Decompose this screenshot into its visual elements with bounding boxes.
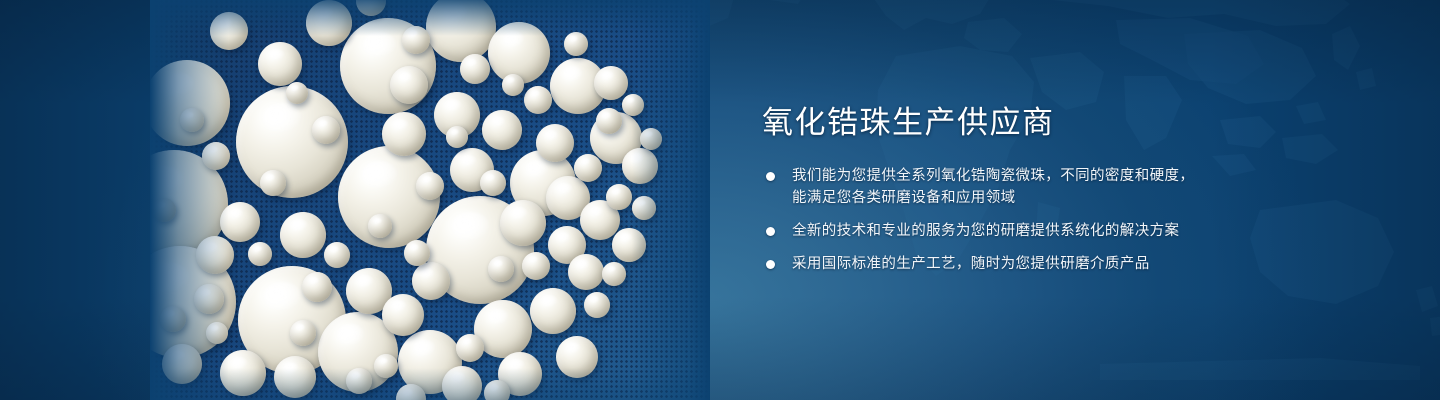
photo-edge-fade — [150, 0, 710, 400]
page-title: 氧化锆珠生产供应商 — [762, 104, 1282, 141]
dot-bullet-icon — [766, 172, 775, 181]
list-item-line: 全新的技术和专业的服务为您的研磨提供系统化的解决方案 — [792, 220, 1282, 242]
list-item-line: 能满足您各类研磨设备和应用领域 — [792, 187, 1282, 209]
dot-bullet-icon — [766, 260, 775, 269]
zirconia-beads-photo — [150, 0, 710, 400]
hero-banner: 氧化锆珠生产供应商 我们能为您提供全系列氧化锆陶瓷微珠，不同的密度和硬度， 能满… — [0, 0, 1440, 400]
list-item: 我们能为您提供全系列氧化锆陶瓷微珠，不同的密度和硬度， 能满足您各类研磨设备和应… — [762, 165, 1282, 209]
list-item: 全新的技术和专业的服务为您的研磨提供系统化的解决方案 — [762, 220, 1282, 242]
list-item-line: 我们能为您提供全系列氧化锆陶瓷微珠，不同的密度和硬度， — [792, 165, 1282, 187]
list-item-line: 采用国际标准的生产工艺，随时为您提供研磨介质产品 — [792, 253, 1282, 275]
dot-bullet-icon — [766, 227, 775, 236]
hero-copy: 氧化锆珠生产供应商 我们能为您提供全系列氧化锆陶瓷微珠，不同的密度和硬度， 能满… — [762, 104, 1282, 275]
list-item: 采用国际标准的生产工艺，随时为您提供研磨介质产品 — [762, 253, 1282, 275]
feature-list: 我们能为您提供全系列氧化锆陶瓷微珠，不同的密度和硬度， 能满足您各类研磨设备和应… — [762, 165, 1282, 275]
